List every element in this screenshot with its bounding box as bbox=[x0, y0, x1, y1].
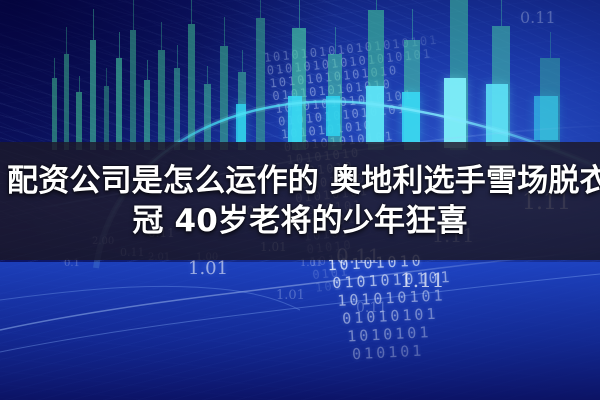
chart-bar-wick bbox=[242, 50, 243, 72]
chart-bar-highlight bbox=[402, 92, 420, 142]
chart-bar-wick bbox=[224, 17, 225, 46]
chart-bar-wick bbox=[93, 9, 94, 40]
chart-bar bbox=[204, 84, 211, 150]
chart-bar-wick bbox=[161, 22, 162, 50]
chart-bar-wick bbox=[376, 0, 377, 10]
chart-bar-highlight bbox=[288, 96, 302, 142]
chart-bar bbox=[116, 58, 122, 150]
chart-bar-wick bbox=[79, 76, 80, 92]
chart-bar bbox=[130, 30, 136, 150]
chart-bar-highlight bbox=[236, 104, 246, 142]
chart-bar-wick bbox=[106, 68, 107, 86]
chart-bar-wick bbox=[207, 66, 208, 84]
chart-bar-wick bbox=[335, 27, 336, 54]
chart-bar bbox=[64, 54, 69, 150]
chart-bar-wick bbox=[133, 0, 134, 30]
chart-bar bbox=[144, 80, 150, 150]
headline-line-1: 配资公司是怎么运作的 奥地利选手雪场脱衣庆祝夺 bbox=[7, 163, 600, 199]
chart-bar bbox=[52, 78, 57, 150]
binary-row: 101010101 bbox=[337, 287, 446, 310]
chart-bar-wick bbox=[191, 0, 192, 24]
chart-bar-highlight bbox=[444, 78, 466, 148]
chart-bar-wick bbox=[54, 58, 55, 78]
chart-bar-wick bbox=[66, 27, 67, 54]
headline-block: 配资公司是怎么运作的 奥地利选手雪场脱衣庆祝夺 冠 40岁老将的少年狂喜 bbox=[0, 142, 600, 260]
chart-bar-wick bbox=[299, 0, 300, 28]
binary-digits-field-lower: 1010101001010101011010101010101010110101… bbox=[327, 243, 600, 377]
chart-bar-wick bbox=[550, 32, 551, 58]
binary-row: 0101010101 bbox=[332, 269, 453, 292]
chart-bar-highlight bbox=[326, 96, 340, 136]
chart-bar bbox=[256, 18, 265, 150]
chart-bar-highlight bbox=[534, 96, 558, 140]
chart-bar bbox=[174, 68, 180, 150]
chart-bar-wick bbox=[412, 9, 413, 40]
chart-bar-wick bbox=[501, 0, 502, 26]
chart-bar bbox=[90, 40, 96, 150]
chart-bar-highlight bbox=[486, 84, 508, 146]
binary-row: 1010101 bbox=[347, 324, 432, 345]
chart-bar-wick bbox=[260, 0, 261, 18]
chart-bar-wick bbox=[177, 45, 178, 68]
chart-bar bbox=[158, 50, 165, 150]
chart-bar bbox=[104, 86, 109, 150]
chart-bar bbox=[188, 24, 195, 150]
headline-line-2: 冠 40岁老将的少年狂喜 bbox=[132, 203, 467, 239]
chart-bar bbox=[220, 46, 228, 150]
binary-row: 01010101 bbox=[342, 306, 439, 328]
chart-bar-highlight bbox=[366, 86, 384, 144]
image-canvas: 1010101010101010101010101010101010101101… bbox=[0, 0, 600, 400]
chart-bar-wick bbox=[119, 32, 120, 58]
chart-bar-wick bbox=[147, 60, 148, 80]
binary-row: 010101 bbox=[352, 342, 425, 363]
